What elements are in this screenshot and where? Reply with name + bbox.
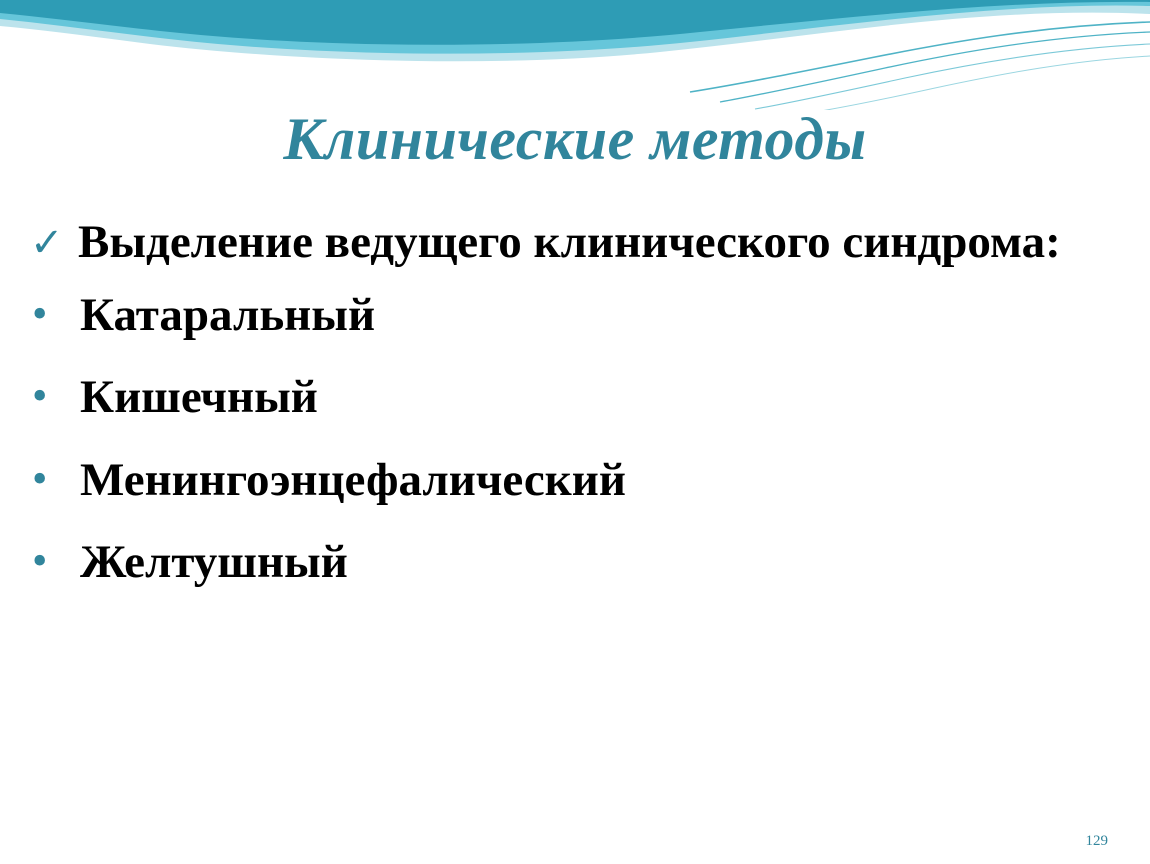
page-number: 129 (1086, 833, 1109, 850)
slide: Клинические методы ✓ Выделение ведущего … (0, 0, 1150, 864)
list-item-label: Желтушный (80, 535, 1122, 590)
checkmark-bullet-icon: ✓ (28, 215, 78, 263)
round-bullet-icon: • (28, 453, 80, 501)
list-item: • Кишечный (28, 370, 1122, 425)
round-bullet-icon: • (28, 288, 80, 336)
round-bullet-icon: • (28, 535, 80, 583)
list-item-label: Кишечный (80, 370, 1122, 425)
list-item-label: Катаральный (80, 288, 1122, 343)
content-body: ✓ Выделение ведущего клинического синдро… (28, 215, 1122, 618)
list-item-label: Менингоэнцефалический (80, 453, 1122, 508)
round-bullet-icon: • (28, 370, 80, 418)
list-item-label: Выделение ведущего клинического синдрома… (78, 215, 1122, 270)
list-item: • Катаральный (28, 288, 1122, 343)
title-area: Клинические методы (0, 66, 1150, 212)
list-item: ✓ Выделение ведущего клинического синдро… (28, 215, 1122, 270)
page-title: Клинические методы (283, 106, 866, 172)
list-item: • Менингоэнцефалический (28, 453, 1122, 508)
list-item: • Желтушный (28, 535, 1122, 590)
